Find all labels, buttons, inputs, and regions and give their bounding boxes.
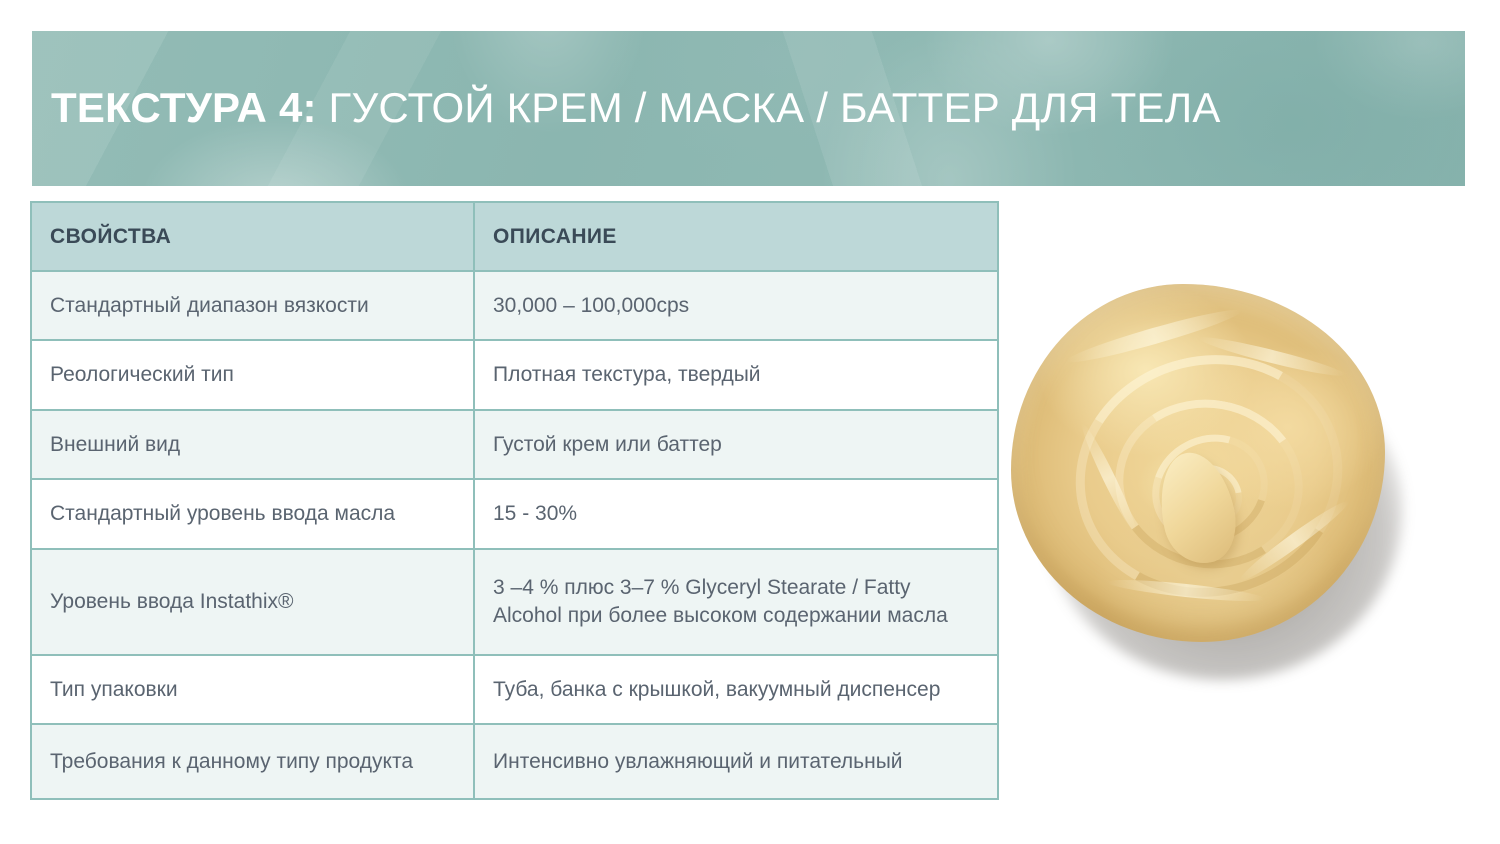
butter-highlight-streak <box>1064 303 1243 369</box>
table-header: СВОЙСТВА ОПИСАНИЕ <box>31 202 998 271</box>
cell-description: Густой крем или баттер <box>474 410 998 479</box>
cell-description: 15 - 30% <box>474 479 998 549</box>
table-row: Стандартный уровень ввода масла 15 - 30% <box>31 479 998 549</box>
cell-description: 30,000 – 100,000cps <box>474 271 998 340</box>
table-header-row: СВОЙСТВА ОПИСАНИЕ <box>31 202 998 271</box>
page-title-strong: ТЕКСТУРА 4: <box>51 84 317 131</box>
cell-property: Внешний вид <box>31 410 474 479</box>
butter-center-peak <box>1150 446 1244 571</box>
product-image <box>985 262 1425 692</box>
page-title: ТЕКСТУРА 4: ГУСТОЙ КРЕМ / МАСКА / БАТТЕР… <box>51 86 1221 130</box>
table-row: Тип упаковки Туба, банка с крышкой, ваку… <box>31 655 998 724</box>
butter-highlight-streak <box>1107 576 1265 605</box>
table-row: Уровень ввода Instathix® 3 –4 % плюс 3–7… <box>31 549 998 655</box>
butter-highlight-streak <box>1077 421 1140 534</box>
cell-property: Реологический тип <box>31 340 474 410</box>
cell-description: Интенсивно увлажняющий и питательный <box>474 724 998 799</box>
table-row: Стандартный диапазон вязкости 30,000 – 1… <box>31 271 998 340</box>
specification-table: СВОЙСТВА ОПИСАНИЕ Стандартный диапазон в… <box>30 201 999 800</box>
butter-highlight-streak <box>1198 332 1347 381</box>
header-banner: ТЕКСТУРА 4: ГУСТОЙ КРЕМ / МАСКА / БАТТЕР… <box>32 31 1465 186</box>
butter-highlight-streak <box>1236 496 1353 586</box>
cell-property: Стандартный диапазон вязкости <box>31 271 474 340</box>
table-row: Требования к данному типу продукта Интен… <box>31 724 998 799</box>
cell-property: Стандартный уровень ввода масла <box>31 479 474 549</box>
cell-property: Уровень ввода Instathix® <box>31 549 474 655</box>
table-body: Стандартный диапазон вязкости 30,000 – 1… <box>31 271 998 799</box>
column-header-description: ОПИСАНИЕ <box>474 202 998 271</box>
cell-property: Тип упаковки <box>31 655 474 724</box>
cell-description: Плотная текстура, твердый <box>474 340 998 410</box>
body-butter-swatch-icon <box>1011 284 1385 642</box>
table-row: Реологический тип Плотная текстура, твер… <box>31 340 998 410</box>
column-header-properties: СВОЙСТВА <box>31 202 474 271</box>
table-row: Внешний вид Густой крем или баттер <box>31 410 998 479</box>
cell-property: Требования к данному типу продукта <box>31 724 474 799</box>
cell-description: Туба, банка с крышкой, вакуумный диспенс… <box>474 655 998 724</box>
cell-description: 3 –4 % плюс 3–7 % Glyceryl Stearate / Fa… <box>474 549 998 655</box>
page-title-light: ГУСТОЙ КРЕМ / МАСКА / БАТТЕР ДЛЯ ТЕЛА <box>317 84 1221 131</box>
